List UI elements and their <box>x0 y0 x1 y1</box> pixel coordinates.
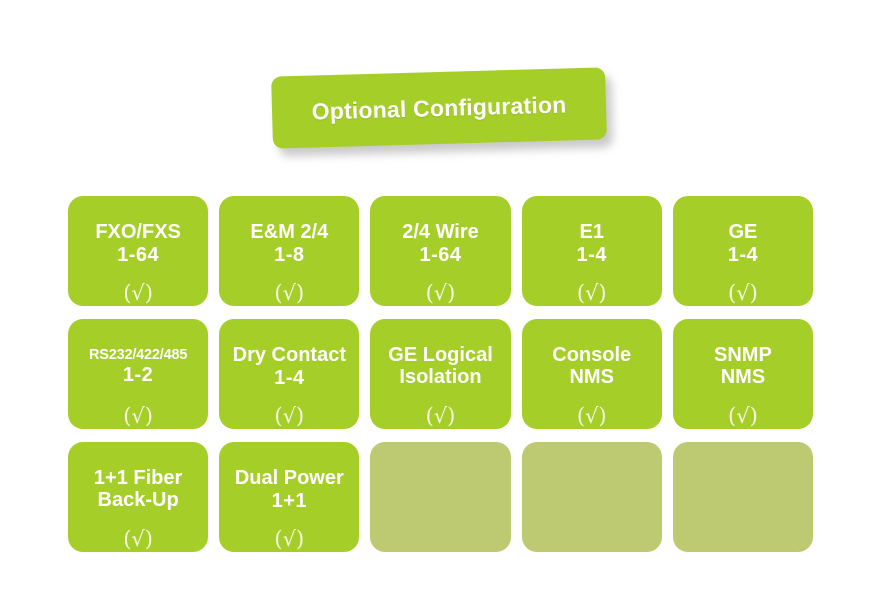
feature-card-snmp-nms[interactable]: SNMP NMS (√) <box>673 319 813 429</box>
feature-card-em-2-4[interactable]: E&M 2/4 1-8 (√) <box>219 196 359 306</box>
feature-card-e1[interactable]: E1 1-4 (√) <box>522 196 662 306</box>
feature-card-console-nms[interactable]: Console NMS (√) <box>522 319 662 429</box>
feature-card-quantity: 1-4 <box>728 244 758 266</box>
feature-card-quantity: 1-8 <box>274 244 304 266</box>
feature-card-quantity: 1-2 <box>123 364 153 386</box>
feature-card-label: 1+1 Fiber Back-Up <box>68 468 208 511</box>
feature-row: 1+1 Fiber Back-Up (√) Dual Power 1+1 (√) <box>68 442 813 552</box>
header-banner: Optional Configuration <box>271 67 607 148</box>
feature-card-label: RS232/422/485 <box>68 345 208 364</box>
feature-grid: FXO/FXS 1-64 (√) E&M 2/4 1-8 (√) 2/4 Wir… <box>68 196 813 552</box>
feature-card-label: 2/4 Wire <box>370 222 510 244</box>
check-icon: (√) <box>68 529 208 550</box>
feature-card-2-4-wire[interactable]: 2/4 Wire 1-64 (√) <box>370 196 510 306</box>
feature-card-placeholder <box>673 442 813 552</box>
feature-card-label: E1 <box>522 222 662 244</box>
feature-card-ge-logical-isolation[interactable]: GE Logical Isolation (√) <box>370 319 510 429</box>
feature-card-placeholder <box>522 442 662 552</box>
check-icon: (√) <box>219 283 359 304</box>
feature-card-dry-contact[interactable]: Dry Contact 1-4 (√) <box>219 319 359 429</box>
check-icon: (√) <box>219 529 359 550</box>
feature-card-label: Dry Contact <box>219 345 359 367</box>
feature-card-placeholder <box>370 442 510 552</box>
check-icon: (√) <box>522 406 662 427</box>
check-icon: (√) <box>673 406 813 427</box>
feature-row: RS232/422/485 1-2 (√) Dry Contact 1-4 (√… <box>68 319 813 429</box>
feature-card-dual-power[interactable]: Dual Power 1+1 (√) <box>219 442 359 552</box>
feature-card-quantity: 1+1 <box>272 490 307 512</box>
check-icon: (√) <box>68 406 208 427</box>
feature-card-label: GE Logical Isolation <box>370 345 510 388</box>
slide-canvas: Optional Configuration FXO/FXS 1-64 (√) … <box>0 0 880 593</box>
page-title: Optional Configuration <box>311 91 566 125</box>
feature-card-quantity: 1-4 <box>577 244 607 266</box>
feature-card-label: GE <box>673 222 813 244</box>
feature-row: FXO/FXS 1-64 (√) E&M 2/4 1-8 (√) 2/4 Wir… <box>68 196 813 306</box>
check-icon: (√) <box>522 283 662 304</box>
feature-card-label: E&M 2/4 <box>219 222 359 244</box>
header-banner-wrapper: Optional Configuration <box>272 64 610 150</box>
feature-card-fxo-fxs[interactable]: FXO/FXS 1-64 (√) <box>68 196 208 306</box>
check-icon: (√) <box>68 283 208 304</box>
feature-card-fiber-backup[interactable]: 1+1 Fiber Back-Up (√) <box>68 442 208 552</box>
feature-card-label: Console NMS <box>522 345 662 388</box>
feature-card-ge[interactable]: GE 1-4 (√) <box>673 196 813 306</box>
check-icon: (√) <box>370 283 510 304</box>
check-icon: (√) <box>370 406 510 427</box>
check-icon: (√) <box>219 406 359 427</box>
feature-card-label: Dual Power <box>219 468 359 490</box>
feature-card-quantity: 1-4 <box>274 367 304 389</box>
feature-card-label: SNMP NMS <box>673 345 813 388</box>
check-icon: (√) <box>673 283 813 304</box>
feature-card-quantity: 1-64 <box>117 244 159 266</box>
feature-card-quantity: 1-64 <box>419 244 461 266</box>
feature-card-rs232-422-485[interactable]: RS232/422/485 1-2 (√) <box>68 319 208 429</box>
feature-card-label: FXO/FXS <box>68 222 208 244</box>
